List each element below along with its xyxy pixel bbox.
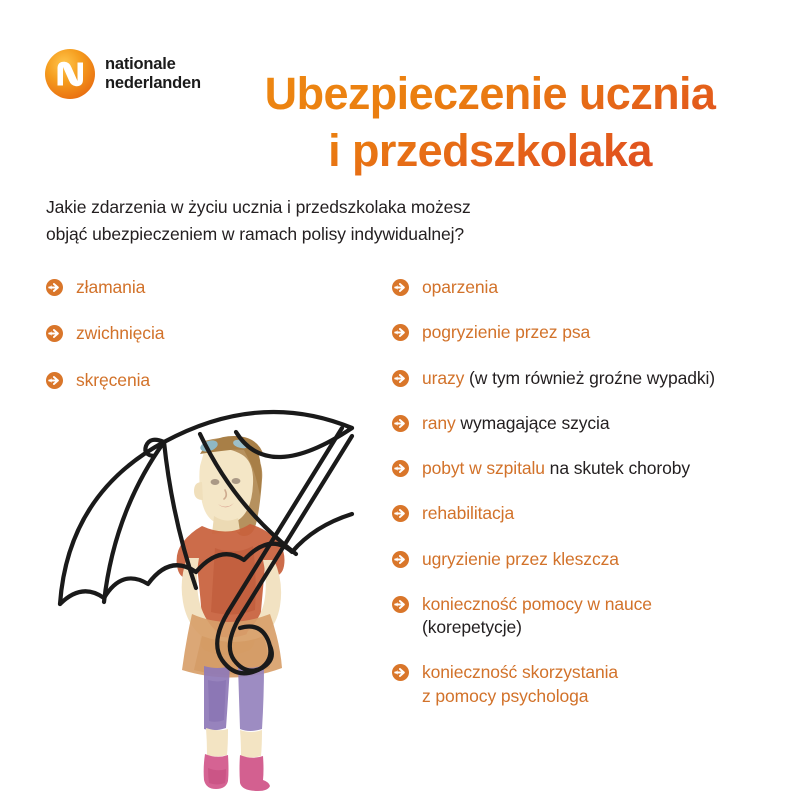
lead-question-line-2: objąć ubezpieczeniem w ramach polisy ind… bbox=[46, 221, 606, 248]
list-item-label: złamania bbox=[76, 277, 145, 297]
list-item-label: pobyt w szpitalu bbox=[422, 458, 545, 478]
list-item: urazy (w tym również groźne wypadki) bbox=[392, 367, 784, 390]
list-item-second-line: z pomocy psychologa bbox=[422, 685, 784, 708]
page-title-line-2: i przedszkolaka bbox=[200, 123, 780, 180]
list-item-label: rehabilitacja bbox=[422, 503, 514, 523]
benefits-list-left: złamania zwichnięcia skręcenia bbox=[46, 276, 376, 415]
nationale-nederlanden-n-circle-icon bbox=[44, 48, 96, 100]
list-item-detail: wymagające szycia bbox=[456, 413, 610, 433]
list-item-detail: na skutek choroby bbox=[545, 458, 690, 478]
brand-name-line-2: nederlanden bbox=[105, 74, 201, 93]
list-item-label: konieczność skorzystania bbox=[422, 662, 618, 682]
circle-arrow-right-icon bbox=[46, 279, 63, 296]
circle-arrow-right-icon bbox=[46, 325, 63, 342]
list-item: pogryzienie przez psa bbox=[392, 321, 784, 344]
header: nationale nederlanden Ubezpieczenie uczn… bbox=[0, 0, 800, 175]
list-item-label: zwichnięcia bbox=[76, 323, 164, 343]
circle-arrow-right-icon bbox=[392, 370, 409, 387]
list-item-label: ugryzienie przez kleszcza bbox=[422, 549, 619, 569]
list-item: konieczność skorzystania z pomocy psycho… bbox=[392, 661, 784, 708]
benefits-list-right: oparzenia pogryzienie przez psa urazy (w… bbox=[392, 276, 784, 730]
list-item-label: pogryzienie przez psa bbox=[422, 322, 590, 342]
list-item: zwichnięcia bbox=[46, 322, 376, 345]
list-item-label: rany bbox=[422, 413, 456, 433]
list-item-second-line: (korepetycje) bbox=[422, 616, 784, 639]
list-item-label: konieczność pomocy w nauce bbox=[422, 594, 652, 614]
list-item: ugryzienie przez kleszcza bbox=[392, 548, 784, 571]
list-item: rehabilitacja bbox=[392, 502, 784, 525]
brand-wordmark: nationale nederlanden bbox=[105, 55, 201, 93]
list-item: złamania bbox=[46, 276, 376, 299]
list-item: konieczność pomocy w nauce (korepetycje) bbox=[392, 593, 784, 640]
list-item: rany wymagające szycia bbox=[392, 412, 784, 435]
circle-arrow-right-icon bbox=[46, 372, 63, 389]
circle-arrow-right-icon bbox=[392, 279, 409, 296]
list-item: oparzenia bbox=[392, 276, 784, 299]
girl-with-umbrella-illustration bbox=[52, 398, 402, 794]
brand-name-line-1: nationale bbox=[105, 55, 201, 74]
brand-logo[interactable]: nationale nederlanden bbox=[44, 48, 201, 100]
circle-arrow-right-icon bbox=[392, 324, 409, 341]
list-item: pobyt w szpitalu na skutek choroby bbox=[392, 457, 784, 480]
list-item-detail: (w tym również groźne wypadki) bbox=[464, 368, 715, 388]
list-item-label: skręcenia bbox=[76, 370, 150, 390]
lead-question: Jakie zdarzenia w życiu ucznia i przedsz… bbox=[46, 194, 606, 247]
lead-question-line-1: Jakie zdarzenia w życiu ucznia i przedsz… bbox=[46, 194, 606, 221]
list-item: skręcenia bbox=[46, 369, 376, 392]
list-item-label: urazy bbox=[422, 368, 464, 388]
page-title: Ubezpieczenie ucznia i przedszkolaka bbox=[200, 66, 780, 179]
list-item-label: oparzenia bbox=[422, 277, 498, 297]
page-title-line-1: Ubezpieczenie ucznia bbox=[200, 66, 780, 123]
